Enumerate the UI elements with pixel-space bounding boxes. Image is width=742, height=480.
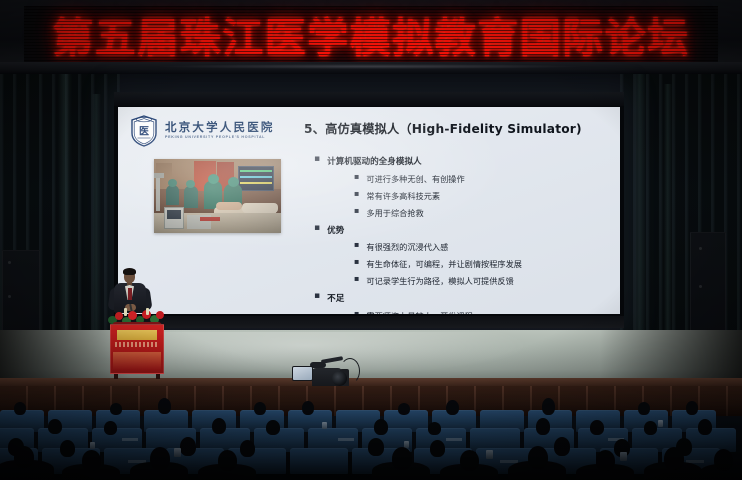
conference-hall-photo: 第五届珠江医学模拟教育国际论坛 医 <box>0 0 742 480</box>
seat-number-tag <box>446 438 462 441</box>
bullet-level1: ▪ 计算机驱动的全身模拟人 <box>314 155 614 167</box>
audience-head <box>14 446 34 468</box>
bullet-level2-text: 常有许多高科技元素 <box>366 190 440 202</box>
audience-head <box>254 402 266 415</box>
bullet-marker-icon: ▪ <box>354 173 359 181</box>
audience-phone-screen <box>486 450 493 459</box>
presentation-slide: 医 北京大学人民医院 PEKING UNIVERSITY PEOPLE'S HO… <box>118 107 620 314</box>
audience-head <box>110 403 122 415</box>
audience-head <box>398 403 410 415</box>
speaker-cabinet-right <box>690 232 726 336</box>
audience-phone-screen <box>90 442 95 449</box>
audience-head <box>104 421 117 435</box>
bullet-marker-icon: ▪ <box>354 258 359 266</box>
hospital-name-en: PEKING UNIVERSITY PEOPLE'S HOSPITAL <box>165 136 275 140</box>
bullet-marker-icon: ▪ <box>314 292 320 301</box>
audience-head <box>60 440 75 457</box>
stage-shadow-right <box>600 330 742 382</box>
curtain-fold <box>58 74 72 336</box>
audience-head <box>430 440 445 457</box>
svg-text:医: 医 <box>139 126 149 138</box>
curtain-fold <box>664 84 672 336</box>
hospital-name-cn: 北京大学人民医院 <box>165 122 275 134</box>
speaker-necktie <box>128 288 132 300</box>
bullet-level2-text: 多用于综合抢救 <box>366 207 423 219</box>
audience-head <box>446 400 459 415</box>
audience-phone-screen <box>322 422 327 429</box>
audience-head <box>460 450 479 471</box>
audience-head <box>428 422 441 435</box>
slide-title: 5、高仿真模拟人（High-Fidelity Simulator) <box>304 119 582 137</box>
audience-head <box>48 419 62 434</box>
audience-head <box>528 446 548 469</box>
bullet-level1-text: 不足 <box>327 292 344 304</box>
screen-bottom-bar <box>114 316 624 328</box>
audience-head <box>218 450 237 471</box>
audience-head <box>180 437 196 456</box>
bullet-marker-icon: ▪ <box>354 207 359 215</box>
audience-head <box>698 419 712 435</box>
bullet-marker-icon: ▪ <box>354 190 359 198</box>
audience-head <box>14 402 26 415</box>
audience-head <box>150 447 170 470</box>
podium-banner-title <box>117 330 157 340</box>
audience-head <box>664 447 684 470</box>
bullet-level1-text: 计算机驱动的全身模拟人 <box>327 155 422 167</box>
bullet-level2: ▪ 有生命体征，可编程，并让剧情按程序发展 <box>354 258 614 270</box>
audience-head <box>590 420 604 435</box>
audience-head <box>392 447 412 470</box>
podium-banner-artwork <box>113 352 161 370</box>
audience-head <box>644 421 657 435</box>
audience-phone-screen <box>620 452 627 461</box>
bullet-marker-icon: ▪ <box>354 241 359 249</box>
camera-lens <box>332 371 347 386</box>
bullet-marker-icon: ▪ <box>314 224 320 233</box>
bullet-level1-text: 优势 <box>327 224 344 236</box>
bullet-marker-icon: ▪ <box>354 275 359 283</box>
bullet-marker-icon: ▪ <box>354 310 359 315</box>
hospital-crest-icon: 医 <box>130 115 158 147</box>
audience-seat <box>290 448 348 474</box>
bullet-level2-text: 可记录学生行为路径，模拟人可提供反馈 <box>366 275 513 287</box>
hospital-logo: 医 北京大学人民医院 PEKING UNIVERSITY PEOPLE'S HO… <box>130 115 275 147</box>
camera-lcd-screen <box>292 366 313 381</box>
projection-screen: 医 北京大学人民医院 PEKING UNIVERSITY PEOPLE'S HO… <box>114 92 624 328</box>
audience-head <box>158 398 171 414</box>
audience-phone-screen <box>174 448 181 457</box>
bullet-level2: ▪ 可记录学生行为路径，模拟人可提供反馈 <box>354 275 614 287</box>
audience-head <box>302 401 314 415</box>
audience-head <box>638 402 650 415</box>
seat-number-tag <box>122 438 138 441</box>
slide-bullet-list: ▪ 计算机驱动的全身模拟人 ▪ 可进行多种无创、有创操作 ▪ 常有许多高科技元素… <box>314 155 614 314</box>
bullet-level2-text: 有生命体征，可编程，并让剧情按程序发展 <box>366 258 522 270</box>
bullet-level2-text: 有很强烈的沉浸代入感 <box>366 241 448 253</box>
bullet-level2: ▪ 常有许多高科技元素 <box>354 190 614 202</box>
audience-head <box>368 438 384 456</box>
audience-head <box>542 398 555 415</box>
audience-head <box>82 450 101 471</box>
podium-banner-subtitle <box>115 342 159 347</box>
bullet-level1: ▪ 优势 <box>314 224 614 236</box>
bullet-level1: ▪ 不足 <box>314 292 614 304</box>
audience-seating-area <box>0 386 742 480</box>
led-banner-text: 第五届珠江医学模拟教育国际论坛 <box>52 4 690 64</box>
audience-head <box>374 419 388 435</box>
led-banner-glow <box>160 64 580 69</box>
bullet-level2: ▪ 多用于综合抢救 <box>354 207 614 219</box>
audience-head <box>240 440 255 457</box>
audience-phone-screen <box>658 420 663 427</box>
bullet-level2: ▪ 可进行多种无创、有创操作 <box>354 173 614 185</box>
speaker-cabinet-left <box>2 250 40 336</box>
audience-head <box>686 401 698 415</box>
audience-head <box>212 418 226 434</box>
podium-leg-right <box>156 374 160 379</box>
speaker-hair <box>123 268 136 275</box>
curtain-fold <box>634 74 646 336</box>
slide-photo-simulation-scene <box>154 159 281 233</box>
audience-head <box>596 450 615 471</box>
podium-leg-left <box>114 374 118 379</box>
bullet-level2-text: 可进行多种无创、有创操作 <box>366 173 464 185</box>
audience-head <box>554 437 570 456</box>
bullet-marker-icon: ▪ <box>314 155 320 164</box>
speaker-at-podium <box>100 268 174 374</box>
bullet-level2-text: 需要师资力量较大，开发课程 <box>366 310 472 315</box>
bullet-level2: ▪ 需要师资力量较大，开发课程 <box>354 310 614 315</box>
seat-number-tag <box>338 438 354 441</box>
audience-head <box>536 418 550 435</box>
bullet-level2: ▪ 有很强烈的沉浸代入感 <box>354 241 614 253</box>
audience-head <box>266 420 280 435</box>
led-banner-panel: 第五届珠江医学模拟教育国际论坛 <box>24 6 718 62</box>
hospital-logo-text: 北京大学人民医院 PEKING UNIVERSITY PEOPLE'S HOSP… <box>165 122 275 140</box>
audience-head <box>714 449 733 471</box>
screen-top-bar <box>114 92 624 106</box>
